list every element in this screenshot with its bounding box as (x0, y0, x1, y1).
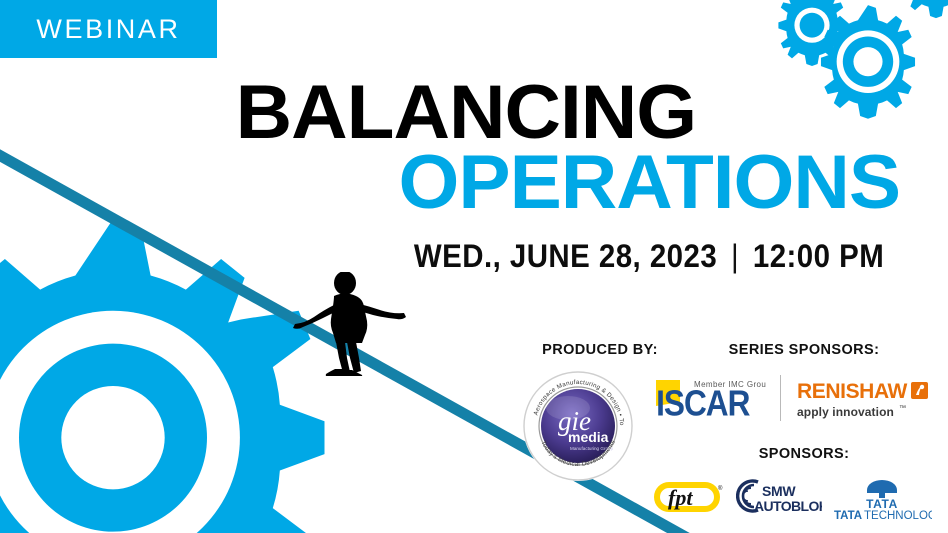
iscar-logo: Member IMC Group ISCAR (650, 372, 766, 424)
sponsor-logos: fpt ® SMW AUTOBLOK (654, 472, 932, 520)
event-time: 12:00 PM (753, 238, 884, 275)
svg-text:TECHNOLOGIES: TECHNOLOGIES (864, 510, 932, 520)
svg-text:™: ™ (899, 405, 906, 412)
webinar-badge: WEBINAR (0, 0, 217, 58)
page-title: BALANCING OPERATIONS (0, 78, 900, 218)
svg-text:TATA: TATA (834, 510, 862, 520)
credits-block: PRODUCED BY: Aerospace Manufacturing & D… (498, 336, 938, 532)
headline-line-2: OPERATIONS (0, 148, 900, 218)
svg-text:®: ® (718, 485, 723, 492)
sponsor-divider (780, 375, 781, 421)
svg-text:media: media (568, 429, 609, 445)
renishaw-logo: RENISHAW apply innovation ™ (795, 374, 937, 422)
webinar-badge-label: WEBINAR (36, 14, 180, 45)
series-sponsors-label: SERIES SPONSORS: (694, 342, 914, 358)
headline-line-1: BALANCING (0, 78, 900, 148)
sponsors-label: SPONSORS: (704, 446, 904, 462)
svg-text:Manufacturing Group: Manufacturing Group (570, 446, 614, 451)
produced-by-label: PRODUCED BY: (520, 342, 680, 358)
svg-text:SMW: SMW (762, 483, 796, 499)
smw-autoblok-logo: SMW AUTOBLOK (736, 475, 822, 517)
svg-text:TATA: TATA (866, 497, 898, 511)
tata-technologies-logo: TATA TATA TECHNOLOGIES (832, 472, 932, 520)
datetime-separator: | (731, 238, 739, 275)
svg-text:RENISHAW: RENISHAW (797, 380, 908, 403)
series-sponsor-logos: Member IMC Group ISCAR RENISHAW apply in… (650, 372, 937, 424)
event-datetime: WED., JUNE 28, 2023 | 12:00 PM (414, 238, 884, 275)
fpt-logo: fpt ® (654, 476, 726, 516)
svg-text:fpt: fpt (668, 485, 693, 510)
tightrope-walker-silhouette (282, 272, 408, 376)
event-date: WED., JUNE 28, 2023 (414, 238, 717, 275)
gie-media-logo: Aerospace Manufacturing & Design • Today… (522, 370, 634, 482)
svg-text:ISCAR: ISCAR (656, 384, 750, 424)
svg-text:apply innovation: apply innovation (797, 405, 894, 419)
webinar-promo-canvas: WEBINAR BALANCING OPERATIONS WED., JUNE … (0, 0, 948, 533)
svg-text:AUTOBLOK: AUTOBLOK (754, 498, 822, 514)
